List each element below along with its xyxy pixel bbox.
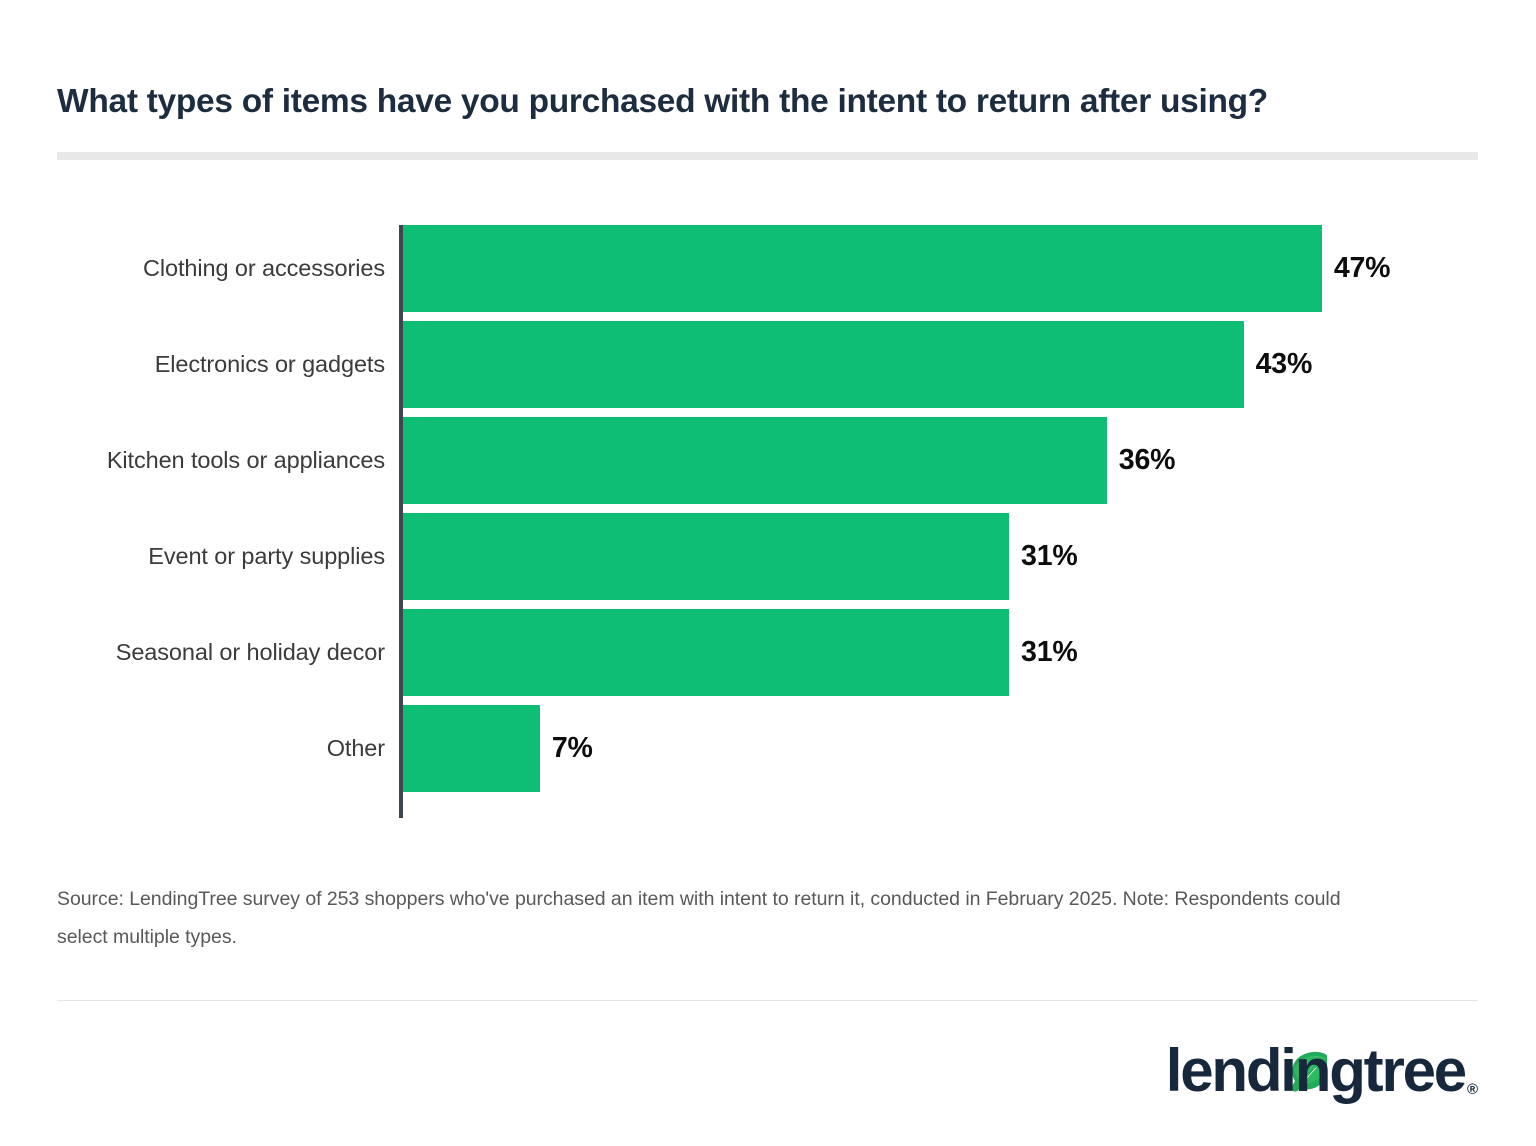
bar-group: 43% bbox=[403, 321, 1312, 408]
bar-value-label: 7% bbox=[552, 732, 593, 765]
bar bbox=[403, 513, 1009, 600]
bar bbox=[403, 705, 540, 792]
bar-rows: Clothing or accessories47%Electronics or… bbox=[0, 225, 1536, 792]
bar-group: 7% bbox=[403, 705, 593, 792]
logo-registered-mark: ® bbox=[1467, 1081, 1478, 1098]
bar-value-label: 31% bbox=[1021, 636, 1077, 669]
bar-group: 47% bbox=[403, 225, 1390, 312]
bar bbox=[403, 321, 1244, 408]
bar-value-label: 47% bbox=[1334, 252, 1390, 285]
bar-value-label: 43% bbox=[1256, 348, 1312, 381]
category-label: Event or party supplies bbox=[148, 513, 385, 600]
bar-row: Other7% bbox=[0, 705, 1536, 792]
bar bbox=[403, 609, 1009, 696]
bar-value-label: 36% bbox=[1119, 444, 1175, 477]
bar-row: Seasonal or holiday decor31% bbox=[0, 609, 1536, 696]
bar-row: Kitchen tools or appliances36% bbox=[0, 417, 1536, 504]
bar bbox=[403, 417, 1107, 504]
page-title: What types of items have you purchased w… bbox=[57, 84, 1457, 121]
bar-row: Event or party supplies31% bbox=[0, 513, 1536, 600]
category-label: Kitchen tools or appliances bbox=[107, 417, 385, 504]
bar-chart-plot-area: Clothing or accessories47%Electronics or… bbox=[0, 218, 1536, 822]
category-label: Seasonal or holiday decor bbox=[116, 609, 385, 696]
bar-group: 36% bbox=[403, 417, 1175, 504]
bar-group: 31% bbox=[403, 513, 1078, 600]
category-label: Electronics or gadgets bbox=[155, 321, 385, 408]
title-divider bbox=[57, 152, 1478, 160]
source-note: Source: LendingTree survey of 253 shoppe… bbox=[57, 880, 1387, 956]
bar-row: Electronics or gadgets43% bbox=[0, 321, 1536, 408]
bar-value-label: 31% bbox=[1021, 540, 1077, 573]
bar-group: 31% bbox=[403, 609, 1078, 696]
footer-divider bbox=[57, 1000, 1478, 1001]
category-label: Clothing or accessories bbox=[143, 225, 385, 312]
bar bbox=[403, 225, 1322, 312]
lendingtree-logo: lendingtree® bbox=[1166, 1034, 1478, 1098]
category-label: Other bbox=[327, 705, 385, 792]
bar-row: Clothing or accessories47% bbox=[0, 225, 1536, 312]
chart-page: What types of items have you purchased w… bbox=[0, 0, 1536, 1146]
logo-wordmark: lendingtree bbox=[1166, 1043, 1465, 1098]
